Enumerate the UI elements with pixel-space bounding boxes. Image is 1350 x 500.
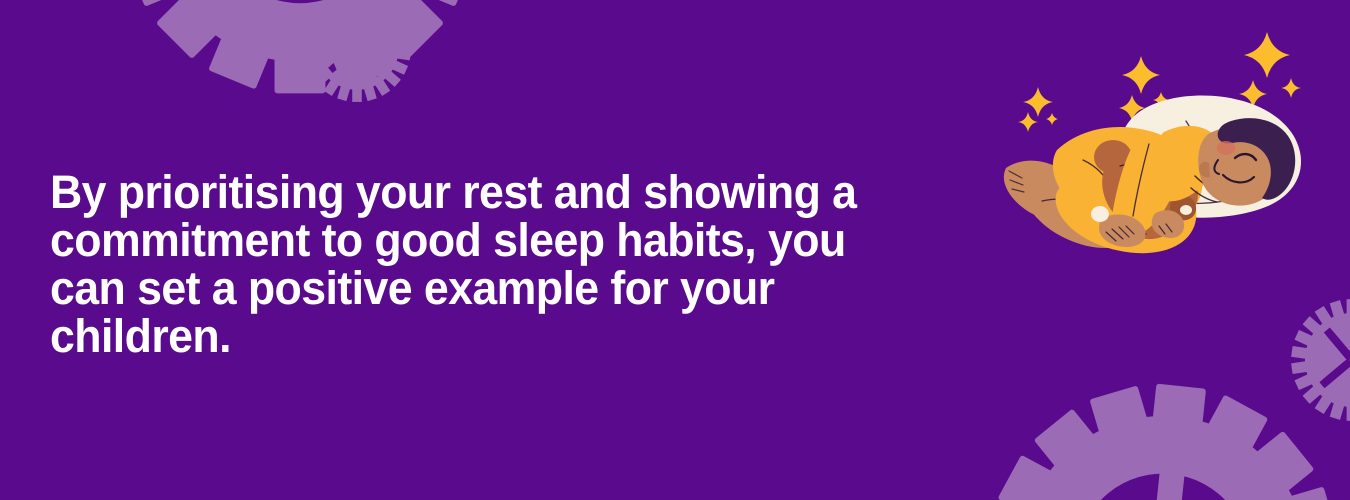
quote-text: By prioritising your rest and showing a … [50,168,953,360]
sparkle-large-mid-icon [1122,56,1160,94]
cheek [1217,141,1235,155]
sparkle-large-right-icon [1244,32,1290,78]
sparkle-large-left-icon [1023,87,1053,117]
quote-block: By prioritising your rest and showing a … [50,168,1000,368]
sparkle-small-left-icon [1046,113,1058,125]
sparkle-mid-left-icon [1018,112,1038,132]
sparkle-small-right-icon [1281,78,1301,98]
teddy-bear-nose [1180,205,1192,215]
sleep-quote-banner: By prioritising your rest and showing a … [0,0,1350,500]
wrist-band [1091,206,1109,222]
